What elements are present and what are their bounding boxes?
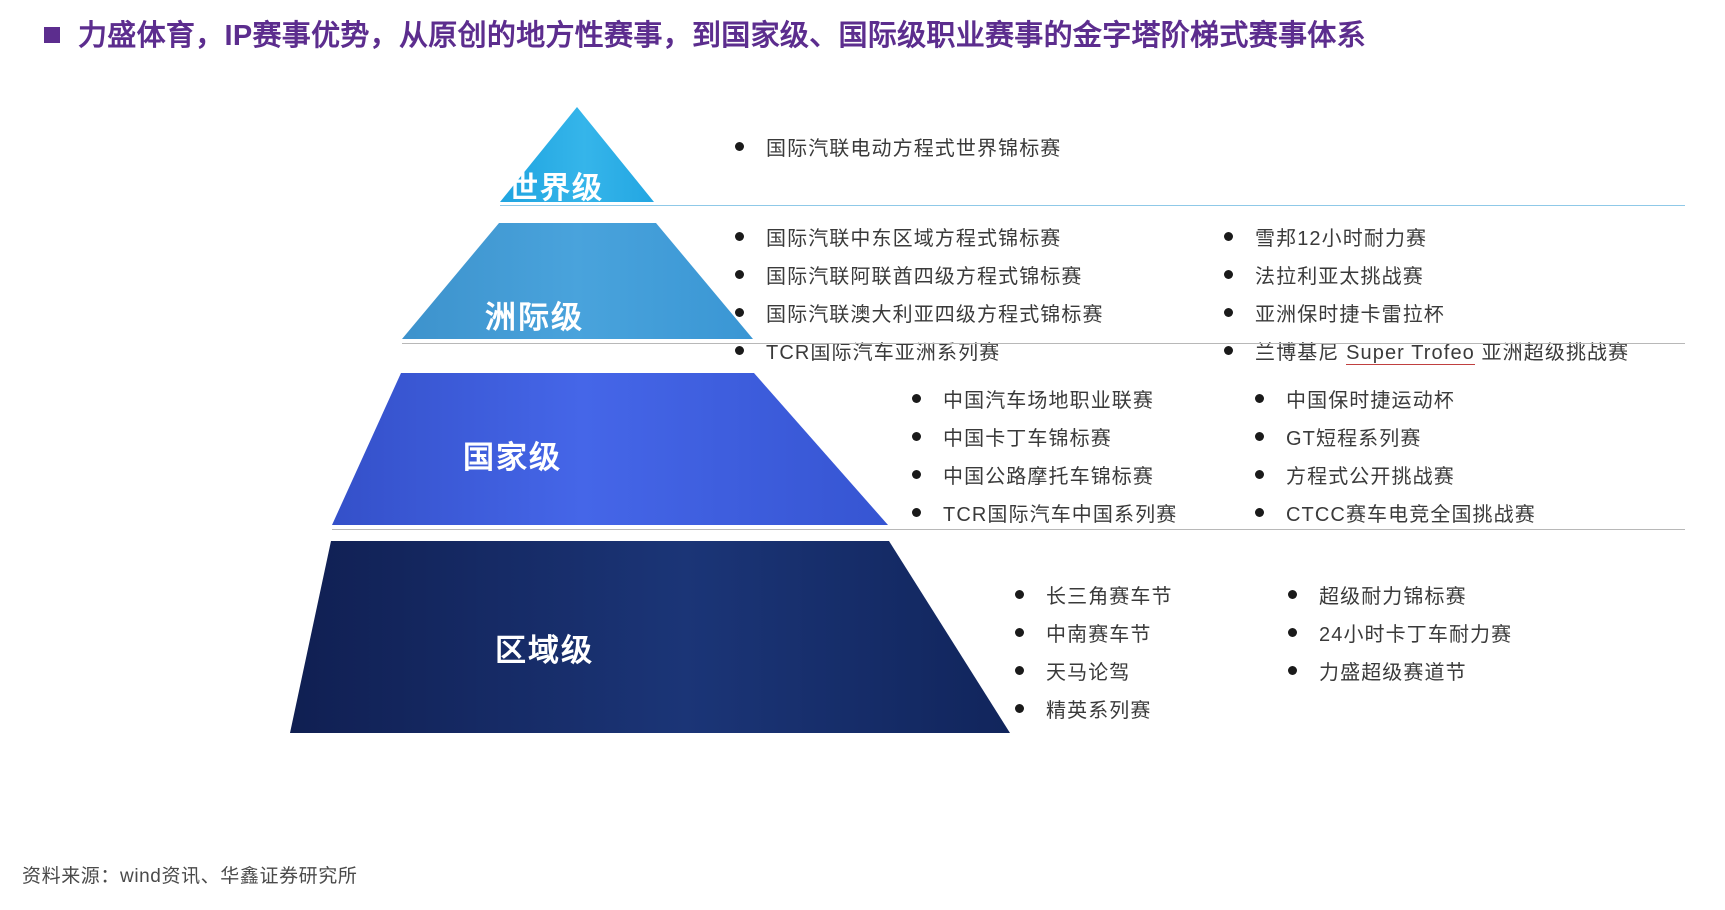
list-item[interactable]: 中国汽车场地职业联赛 (912, 379, 1177, 417)
bullet-dot-icon (1255, 432, 1264, 441)
list-item-label: 中国汽车场地职业联赛 (943, 384, 1154, 413)
bullet-dot-icon (1015, 628, 1024, 637)
list-item[interactable]: 国际汽联澳大利亚四级方程式锦标赛 (735, 293, 1104, 331)
source-note: 资料来源：wind资讯、华鑫证券研究所 (22, 861, 357, 888)
tier-continental-column-2: 雪邦12小时耐力赛 法拉利亚太挑战赛 亚洲保时捷卡雷拉杯 兰博基尼 Super … (1224, 217, 1629, 369)
list-item-label: 24小时卡丁车耐力赛 (1319, 618, 1512, 647)
list-item-label: 中国公路摩托车锦标赛 (943, 460, 1154, 489)
list-item[interactable]: 24小时卡丁车耐力赛 (1288, 613, 1512, 651)
list-item[interactable]: 兰博基尼 Super Trofeo 亚洲超级挑战赛 (1224, 331, 1629, 369)
list-item-label: 兰博基尼 Super Trofeo 亚洲超级挑战赛 (1255, 336, 1629, 365)
header-square-bullet-icon (44, 27, 60, 43)
tier-world-column-1: 国际汽联电动方程式世界锦标赛 (735, 127, 1061, 165)
page-header: 力盛体育，IP赛事优势，从原创的地方性赛事，到国家级、国际级职业赛事的金字塔阶梯… (44, 16, 1684, 56)
list-item-label: 中国卡丁车锦标赛 (943, 422, 1112, 451)
tier-national-column-2: 中国保时捷运动杯 GT短程系列赛 方程式公开挑战赛 CTCC赛车电竞全国挑战赛 (1255, 379, 1536, 531)
list-item-label: 长三角赛车节 (1046, 580, 1173, 609)
list-item[interactable]: 中南赛车节 (1015, 613, 1173, 651)
list-item-label: 国际汽联电动方程式世界锦标赛 (766, 132, 1061, 161)
list-item-label: GT短程系列赛 (1286, 422, 1421, 451)
tier-regional-column-2: 超级耐力锦标赛 24小时卡丁车耐力赛 力盛超级赛道节 (1288, 575, 1512, 689)
list-item-label: 力盛超级赛道节 (1319, 656, 1467, 685)
list-item-label: 国际汽联澳大利亚四级方程式锦标赛 (766, 298, 1104, 327)
list-item[interactable]: 超级耐力锦标赛 (1288, 575, 1512, 613)
bullet-dot-icon (735, 142, 744, 151)
list-item[interactable]: 中国保时捷运动杯 (1255, 379, 1536, 417)
bullet-dot-icon (1288, 628, 1297, 637)
list-item[interactable]: 天马论驾 (1015, 651, 1173, 689)
tier-regional-column-1: 长三角赛车节 中南赛车节 天马论驾 精英系列赛 (1015, 575, 1173, 727)
bullet-dot-icon (735, 308, 744, 317)
list-item[interactable]: 国际汽联电动方程式世界锦标赛 (735, 127, 1061, 165)
list-item-label: 国际汽联中东区域方程式锦标赛 (766, 222, 1061, 251)
bullet-dot-icon (1288, 666, 1297, 675)
list-item[interactable]: 法拉利亚太挑战赛 (1224, 255, 1629, 293)
bullet-dot-icon (1015, 704, 1024, 713)
bullet-dot-icon (735, 232, 744, 241)
list-item-label: 中南赛车节 (1046, 618, 1152, 647)
list-item[interactable]: 雪邦12小时耐力赛 (1224, 217, 1629, 255)
list-item[interactable]: 方程式公开挑战赛 (1255, 455, 1536, 493)
list-item-label: CTCC赛车电竞全国挑战赛 (1286, 498, 1536, 527)
list-item[interactable]: TCR国际汽车中国系列赛 (912, 493, 1177, 531)
list-item-label: 国际汽联阿联酋四级方程式锦标赛 (766, 260, 1083, 289)
list-item[interactable]: TCR国际汽车亚洲系列赛 (735, 331, 1104, 369)
bullet-dot-icon (1224, 232, 1233, 241)
pyramid-diagram: 世界级 国际汽联电动方程式世界锦标赛 洲际级 国际汽联中 (0, 105, 1725, 765)
bullet-dot-icon (735, 346, 744, 355)
bullet-dot-icon (1224, 308, 1233, 317)
list-item-label: TCR国际汽车中国系列赛 (943, 498, 1177, 527)
list-item-label: TCR国际汽车亚洲系列赛 (766, 336, 1000, 365)
tier-continental-divider (402, 343, 1685, 344)
bullet-dot-icon (1015, 666, 1024, 675)
bullet-dot-icon (1224, 270, 1233, 279)
page-title: 力盛体育，IP赛事优势，从原创的地方性赛事，到国家级、国际级职业赛事的金字塔阶梯… (78, 16, 1366, 56)
list-item-label: 方程式公开挑战赛 (1286, 460, 1455, 489)
list-item-label: 精英系列赛 (1046, 694, 1152, 723)
list-item-label: 亚洲保时捷卡雷拉杯 (1255, 298, 1445, 327)
bullet-dot-icon (1255, 508, 1264, 517)
bullet-dot-icon (1015, 590, 1024, 599)
list-item[interactable]: 中国卡丁车锦标赛 (912, 417, 1177, 455)
bullet-dot-icon (912, 432, 921, 441)
list-item-label: 天马论驾 (1046, 656, 1130, 685)
list-item[interactable]: GT短程系列赛 (1255, 417, 1536, 455)
list-item-label: 超级耐力锦标赛 (1319, 580, 1467, 609)
list-item[interactable]: 力盛超级赛道节 (1288, 651, 1512, 689)
bullet-dot-icon (912, 470, 921, 479)
bullet-dot-icon (1255, 470, 1264, 479)
bullet-dot-icon (1288, 590, 1297, 599)
list-item[interactable]: 国际汽联阿联酋四级方程式锦标赛 (735, 255, 1104, 293)
list-item[interactable]: 中国公路摩托车锦标赛 (912, 455, 1177, 493)
tier-continental-column-1: 国际汽联中东区域方程式锦标赛 国际汽联阿联酋四级方程式锦标赛 国际汽联澳大利亚四… (735, 217, 1104, 369)
bullet-dot-icon (912, 508, 921, 517)
list-item-label: 法拉利亚太挑战赛 (1255, 260, 1424, 289)
list-item-label: 雪邦12小时耐力赛 (1255, 222, 1427, 251)
tier-world-divider (500, 205, 1685, 206)
list-item[interactable]: 精英系列赛 (1015, 689, 1173, 727)
list-item[interactable]: 长三角赛车节 (1015, 575, 1173, 613)
bullet-dot-icon (912, 394, 921, 403)
list-item[interactable]: CTCC赛车电竞全国挑战赛 (1255, 493, 1536, 531)
bullet-dot-icon (1255, 394, 1264, 403)
bullet-dot-icon (1224, 346, 1233, 355)
list-item[interactable]: 国际汽联中东区域方程式锦标赛 (735, 217, 1104, 255)
tier-national-column-1: 中国汽车场地职业联赛 中国卡丁车锦标赛 中国公路摩托车锦标赛 TCR国际汽车中国… (912, 379, 1177, 531)
tier-national-divider (332, 529, 1685, 530)
bullet-dot-icon (735, 270, 744, 279)
list-item-label: 中国保时捷运动杯 (1286, 384, 1455, 413)
list-item[interactable]: 亚洲保时捷卡雷拉杯 (1224, 293, 1629, 331)
